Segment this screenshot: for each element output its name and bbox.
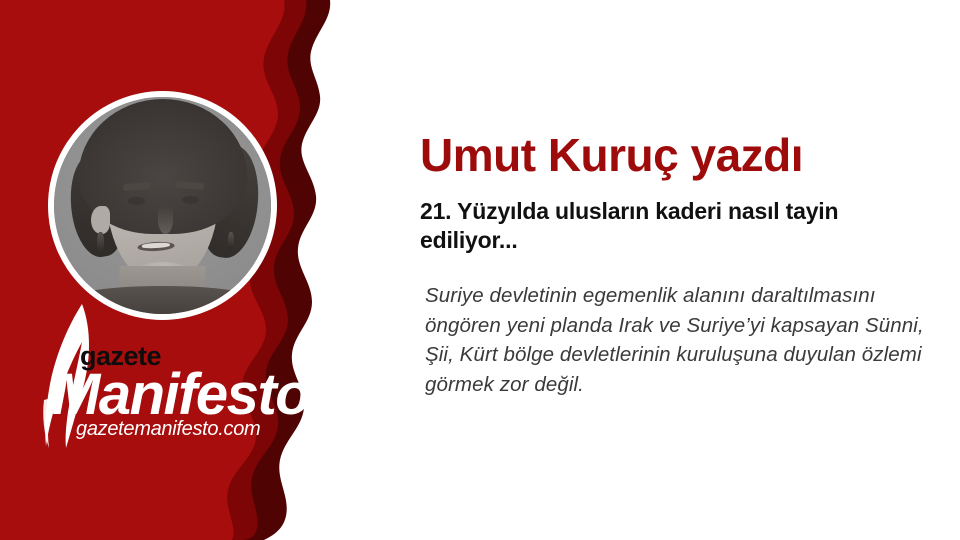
brand-logo[interactable]: gazete Manifesto gazetemanifesto.com — [30, 300, 310, 450]
brand-url[interactable]: gazetemanifesto.com — [76, 418, 260, 441]
avatar — [48, 91, 277, 320]
portrait-ear — [91, 206, 111, 234]
article-headline: Umut Kuruç yazdı — [420, 131, 803, 179]
portrait-eye-left — [128, 197, 145, 205]
author-portrait-image — [54, 97, 271, 314]
social-card: gazete Manifesto gazetemanifesto.com Umu… — [0, 0, 960, 540]
portrait-earring-right — [228, 232, 235, 249]
article-subhead: 21. Yüzyılda ulusların kaderi nasıl tayi… — [420, 197, 932, 255]
portrait-eye-right — [182, 196, 199, 204]
article-content: Umut Kuruç yazdı 21. Yüzyılda ulusların … — [420, 0, 940, 540]
article-body: Suriye devletinin egemenlik alanını dara… — [425, 281, 941, 399]
portrait-earring-left — [97, 232, 104, 254]
